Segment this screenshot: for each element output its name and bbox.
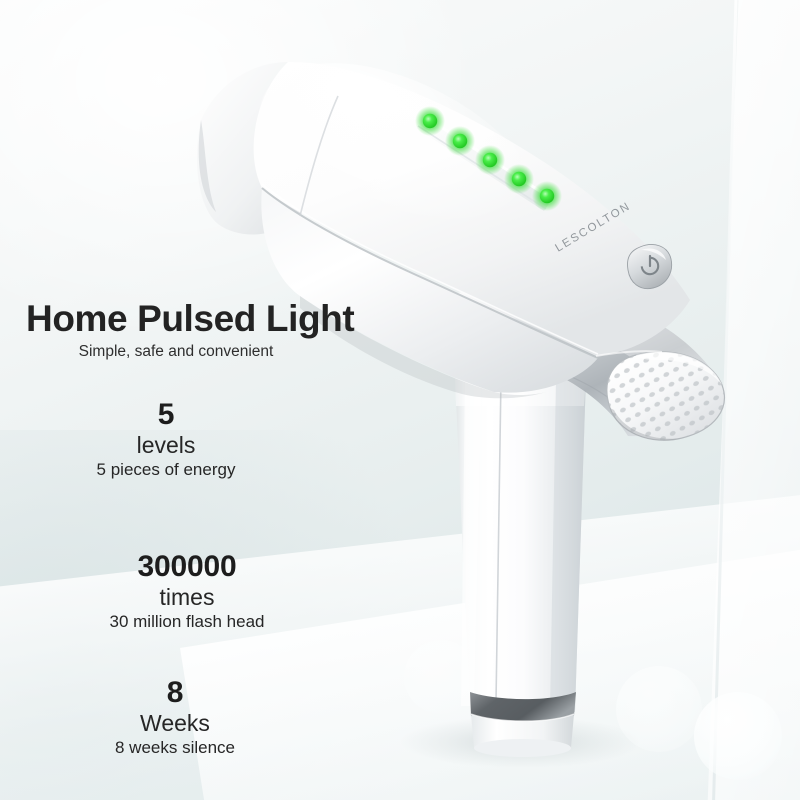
base-bottom-face [474,739,571,757]
page-subtitle: Simple, safe and convenient [28,343,324,361]
led-light [415,106,445,136]
stat-description: 30 million flash head [42,611,332,634]
device-handle [455,376,586,712]
stat-value: 5 [40,398,292,432]
led-light [504,164,534,194]
page-title: Home Pulsed Light [26,298,354,340]
stat-unit: times [42,584,332,611]
power-button[interactable] [628,244,672,288]
product-marketing-image: LESCOLTON Home Pulsed Light Simple, safe… [0,0,800,800]
stat-block-times: 300000 times 30 million flash head [42,550,332,634]
led-light [445,126,475,156]
stat-unit: Weeks [38,710,312,737]
led-light [532,181,562,211]
device-base [470,692,576,757]
stat-value: 300000 [42,550,332,584]
stat-block-weeks: 8 Weeks 8 weeks silence [38,676,312,760]
stat-unit: levels [40,432,292,459]
led-light [475,145,505,175]
stat-description: 8 weeks silence [38,737,312,760]
stat-block-levels: 5 levels 5 pieces of energy [40,398,292,482]
stat-description: 5 pieces of energy [40,459,292,482]
stat-value: 8 [38,676,312,710]
